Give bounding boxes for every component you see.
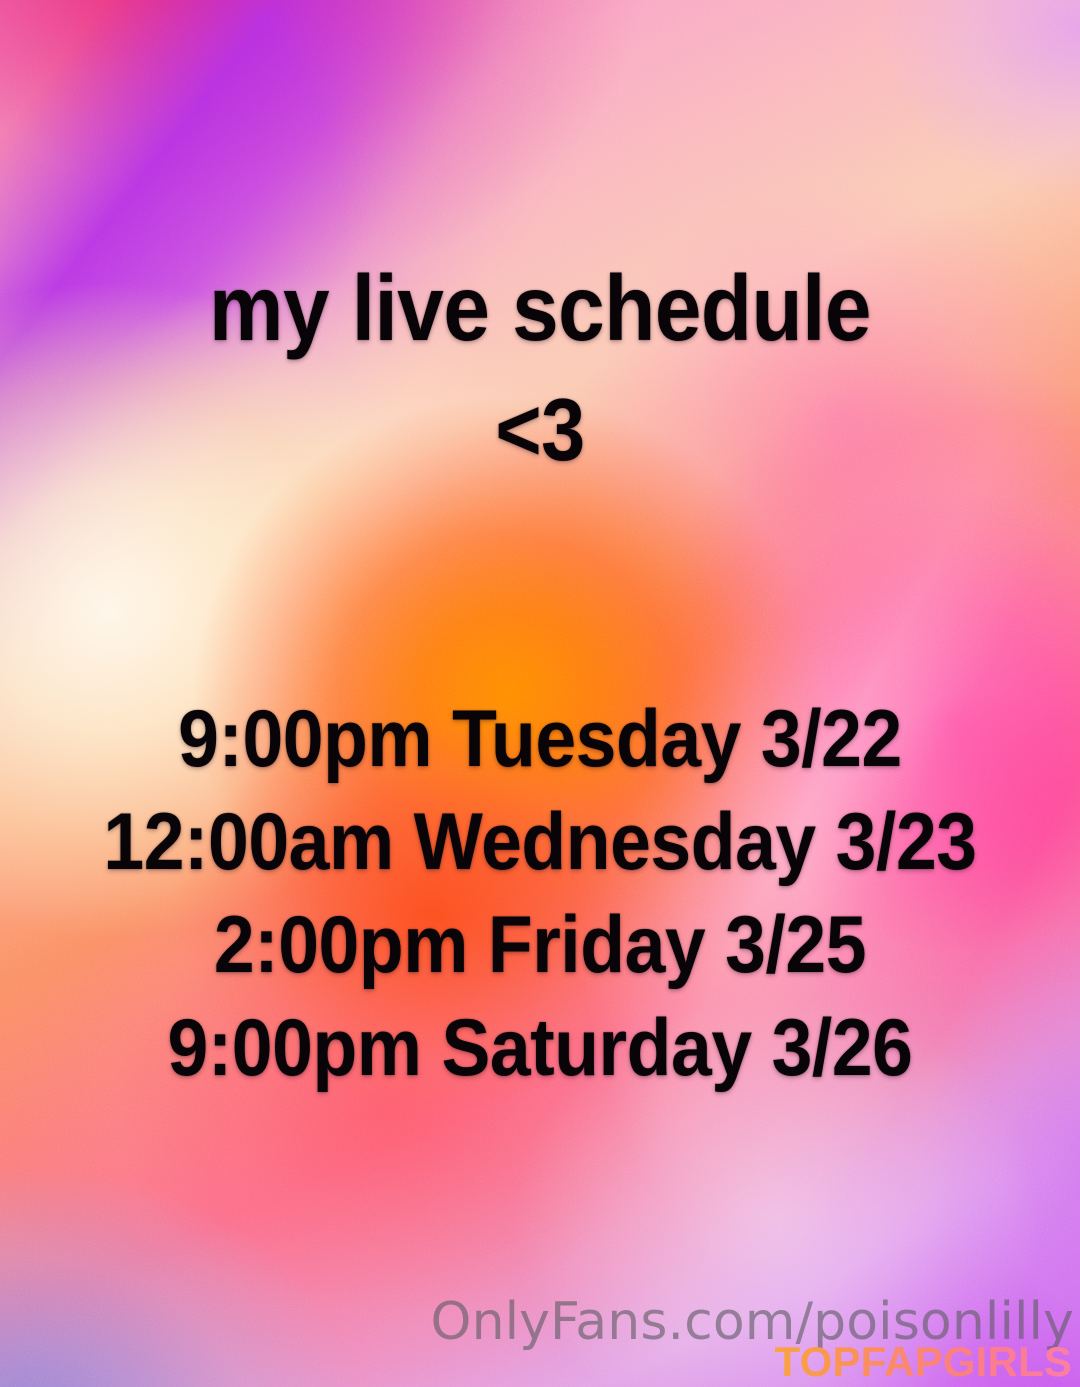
topfapgirls-logo-watermark: TOPFAPGIRLS — [775, 1341, 1072, 1383]
schedule-poster: my live schedule <3 9:00pm Tuesday 3/22 … — [0, 0, 1080, 1387]
heart-emoticon: <3 — [54, 386, 1026, 474]
schedule-item: 9:00pm Saturday 3/26 — [51, 997, 1028, 1100]
poster-content: my live schedule <3 9:00pm Tuesday 3/22 … — [0, 0, 1080, 1387]
page-title: my live schedule — [54, 262, 1026, 355]
schedule-item: 9:00pm Tuesday 3/22 — [51, 688, 1028, 791]
schedule-list: 9:00pm Tuesday 3/22 12:00am Wednesday 3/… — [0, 688, 1080, 1100]
schedule-item: 12:00am Wednesday 3/23 — [51, 791, 1028, 894]
schedule-item: 2:00pm Friday 3/25 — [51, 894, 1028, 997]
